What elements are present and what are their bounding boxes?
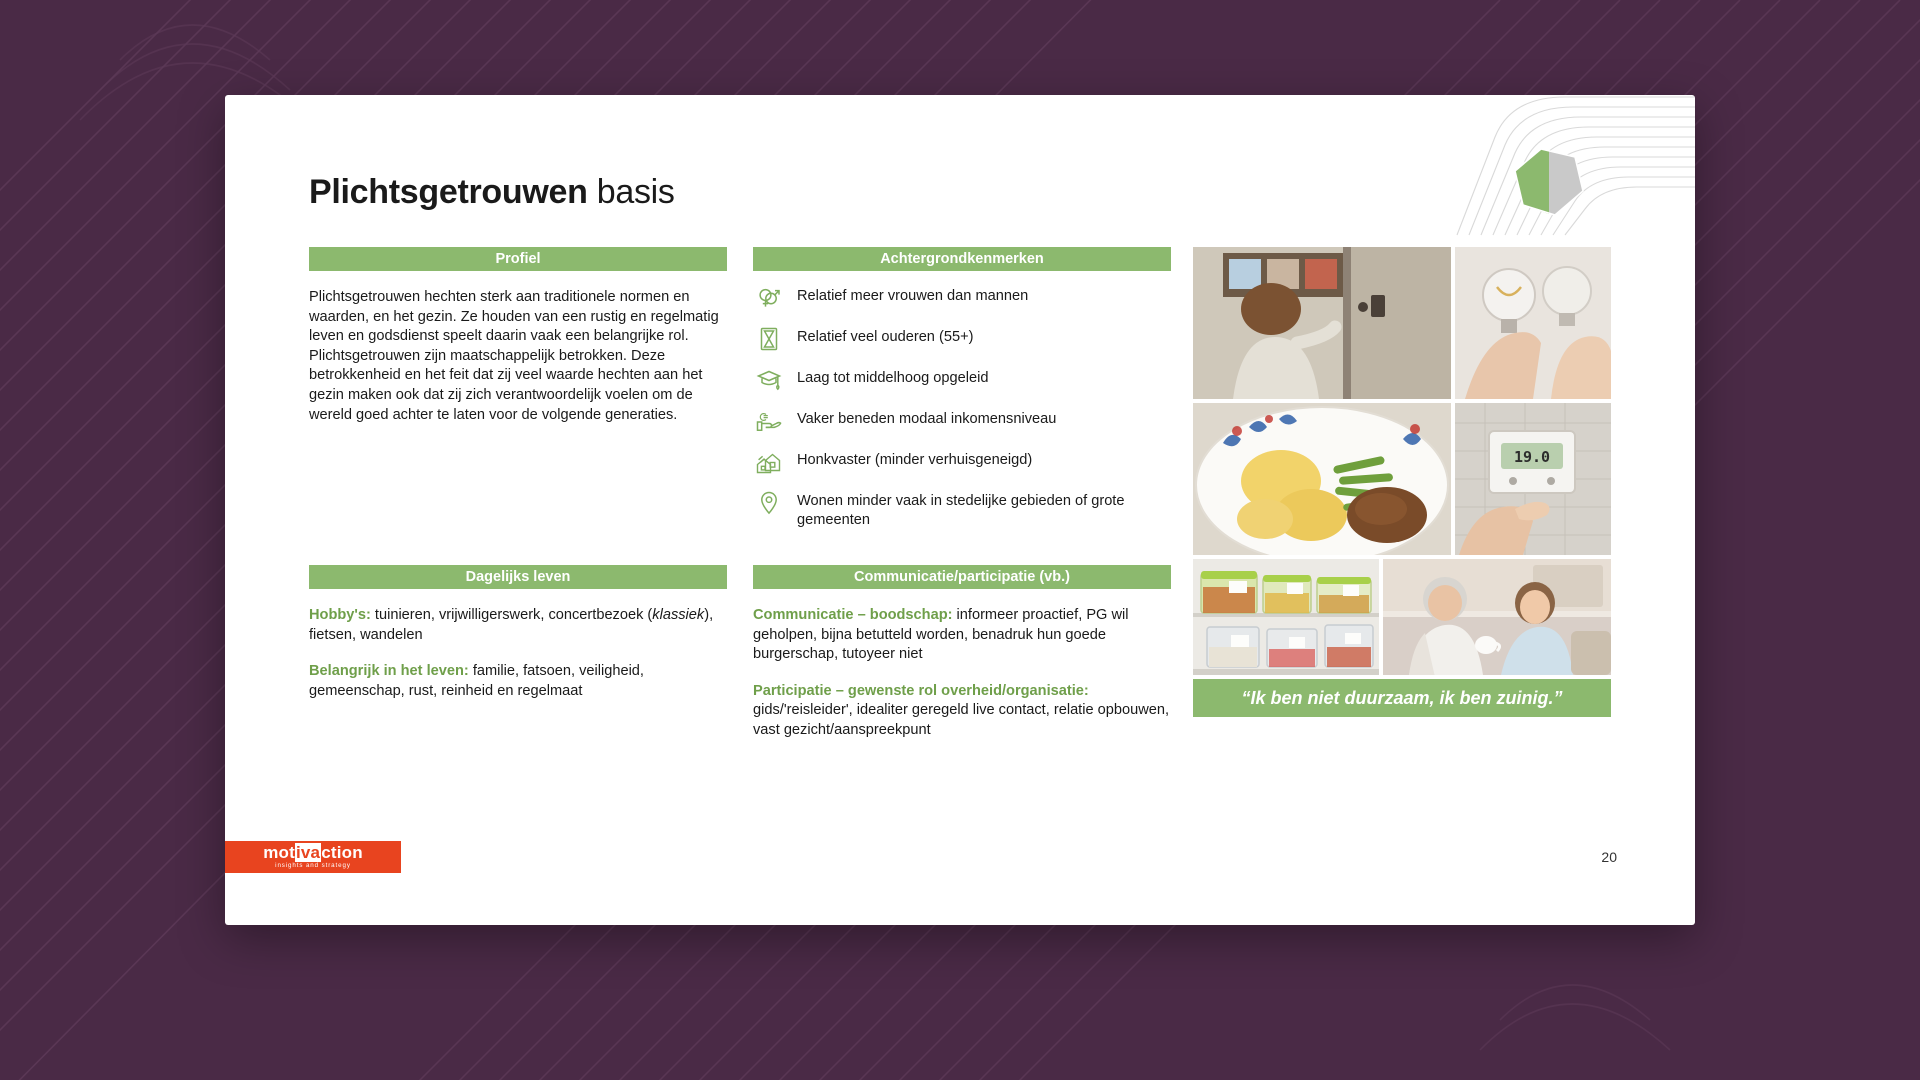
list-item-label: Laag tot middelhoog opgeleid [797,365,989,388]
photo-woman-at-mailbox [1193,247,1451,399]
entry-text: gids/'reisleider', idealiter geregeld li… [753,702,1169,738]
list-item-label: Relatief veel ouderen (55+) [797,324,973,347]
brand-pentagon-logo-icon [1505,145,1591,219]
panel-header-achtergrondkenmerken: Achtergrondkenmerken [753,247,1171,271]
list-item: Relatief veel ouderen (55+) [753,324,1171,353]
panel-body-communicatie-participatie: Communicatie – boodschap: informeer proa… [753,606,1171,741]
list-item-label: Honkvaster (minder verhuisgeneigd) [797,447,1032,470]
photo-dutch-meal-plate [1193,403,1451,555]
logo-part-b: ction [321,843,363,862]
panel-body-profiel: Plichtsgetrouwen hechten sterk aan tradi… [309,288,727,425]
entry-lead: Belangrijk in het leven: [309,663,469,679]
thermostat-reading: 19.0 [1514,448,1550,466]
communicatie-entry-boodschap: Communicatie – boodschap: informeer proa… [753,606,1171,665]
logo-wordmark: motivaction [263,844,363,861]
page-title-light: basis [597,173,675,211]
panel-header-communicatie-participatie: Communicatie/participatie (vb.) [753,565,1171,589]
entry-lead: Participatie – gewenste rol overheid/org… [753,683,1089,699]
logo-tagline: insights and strategy [275,862,351,870]
hand-with-euro-icon [753,407,785,435]
panel-header-dagelijks-leven: Dagelijks leven [309,565,727,589]
list-item: Wonen minder vaak in stedelijke gebieden… [753,488,1171,530]
entry-lead: Hobby's: [309,607,371,623]
photo-led-lightbulbs [1455,247,1611,399]
page-title-bold: Plichtsgetrouwen [309,173,588,211]
photo-collage: 19.0 [1193,247,1611,717]
dagelijks-entry-belangrijk: Belangrijk in het leven: familie, fatsoe… [309,662,727,701]
photo-two-women-tea [1383,559,1611,675]
gender-symbols-icon [753,284,785,312]
page-number: 20 [1601,849,1617,865]
photo-fridge-containers [1193,559,1379,675]
list-item: Vaker beneden modaal inkomensniveau [753,406,1171,435]
panel-header-profiel: Profiel [309,247,727,271]
collage-row-1 [1193,247,1611,399]
panel-dagelijks-leven: Dagelijks leven Hobby's: tuinieren, vrij… [309,565,727,701]
logo-part-kern: iva [295,843,321,862]
list-item-label: Wonen minder vaak in stedelijke gebieden… [797,488,1171,530]
list-item: Relatief meer vrouwen dan mannen [753,283,1171,312]
graduation-cap-icon [753,366,785,394]
panel-body-dagelijks-leven: Hobby's: tuinieren, vrijwilligerswerk, c… [309,606,727,701]
presentation-slide: Plichtsgetrouwen basis Profiel Plichtsge… [225,95,1695,925]
collage-row-2: 19.0 [1193,403,1611,555]
entry-italic: klassiek [652,607,704,623]
list-item-label: Relatief meer vrouwen dan mannen [797,283,1028,306]
panel-profiel: Profiel Plichtsgetrouwen hechten sterk a… [309,247,727,425]
profiel-paragraph: Plichtsgetrouwen hechten sterk aan tradi… [309,288,727,425]
collage-row-3 [1193,559,1611,675]
houses-icon [753,448,785,476]
entry-lead: Communicatie – boodschap: [753,607,952,623]
page-title: Plichtsgetrouwen basis [309,173,675,212]
list-item: Laag tot middelhoog opgeleid [753,365,1171,394]
dagelijks-entry-hobbys: Hobby's: tuinieren, vrijwilligerswerk, c… [309,606,727,645]
panel-communicatie-participatie: Communicatie/participatie (vb.) Communic… [753,565,1171,741]
panel-achtergrondkenmerken: Achtergrondkenmerken Relatief meer vrouw… [753,247,1171,542]
hourglass-icon [753,325,785,353]
logo-part-a: mot [263,843,295,862]
achtergrondkenmerken-list: Relatief meer vrouwen dan mannen Relatie… [753,283,1171,530]
list-item-label: Vaker beneden modaal inkomensniveau [797,406,1056,429]
collage-quote: “Ik ben niet duurzaam, ik ben zuinig.” [1193,679,1611,717]
communicatie-entry-participatie: Participatie – gewenste rol overheid/org… [753,682,1171,741]
motivaction-logo: motivaction insights and strategy [225,841,401,873]
photo-thermostat: 19.0 [1455,403,1611,555]
entry-text-before: tuinieren, vrijwilligerswerk, concertbez… [371,607,652,623]
list-item: Honkvaster (minder verhuisgeneigd) [753,447,1171,476]
location-pin-icon [753,489,785,517]
